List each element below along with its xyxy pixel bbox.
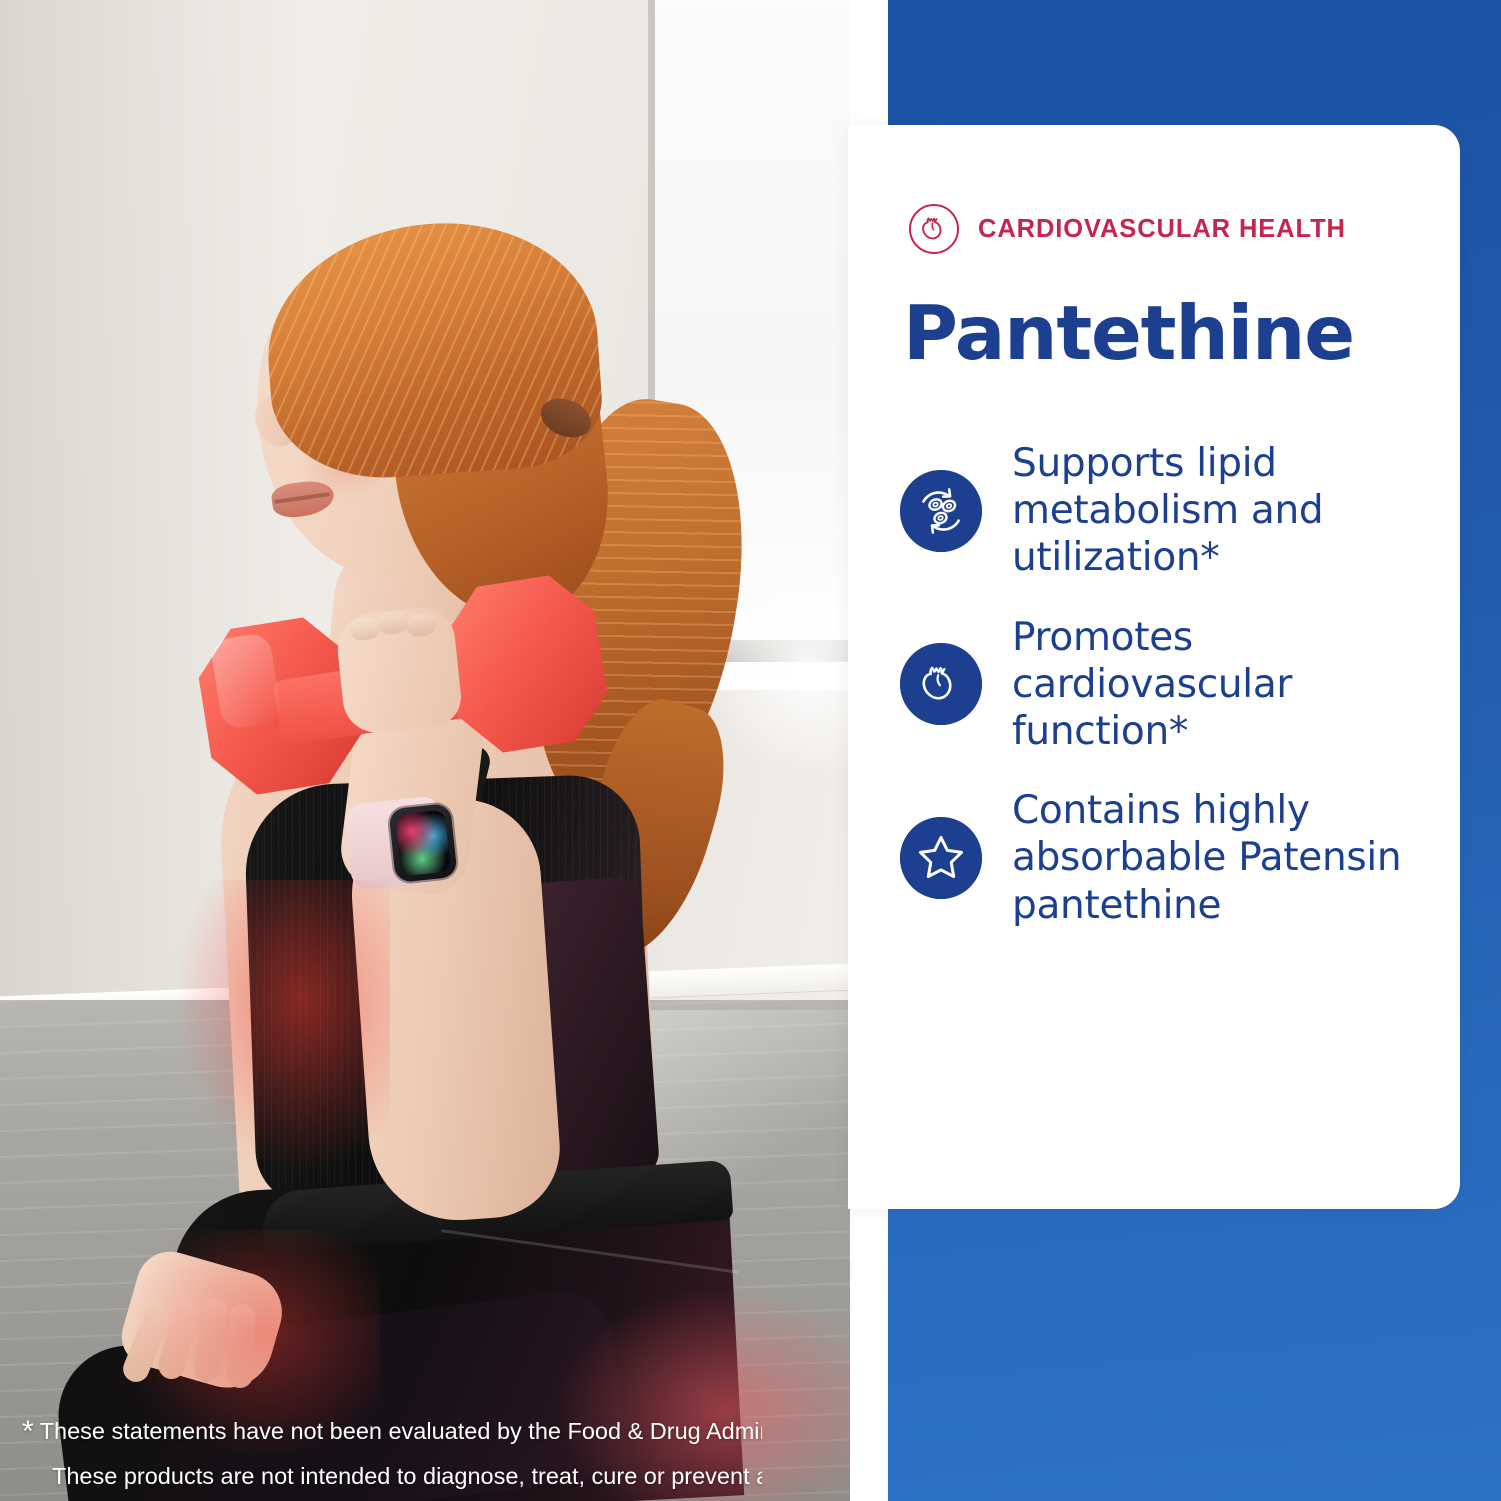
benefit-label: Promotes cardiovascular function*	[1012, 614, 1420, 756]
asterisk-marker: *	[22, 1415, 34, 1448]
anatomical-heart-icon	[900, 643, 982, 725]
lifestyle-photo	[0, 0, 850, 1501]
lipid-metabolism-cycle-icon	[900, 470, 982, 552]
infographic-canvas: CARDIOVASCULAR HEALTH Pantethine	[0, 0, 1501, 1501]
star-icon	[900, 817, 982, 899]
benefit-item-lipid-metabolism: Supports lipid metabolism and utilizatio…	[900, 440, 1420, 582]
benefit-label: Supports lipid metabolism and utilizatio…	[1012, 440, 1420, 582]
benefit-item-cardiovascular-function: Promotes cardiovascular function*	[900, 614, 1420, 756]
photo-red-glow	[170, 880, 390, 1180]
benefit-item-patensin-pantethine: Contains highly absorbable Patensin pant…	[900, 787, 1420, 929]
cardiovascular-health-badge: CARDIOVASCULAR HEALTH	[908, 203, 1346, 255]
fda-disclaimer-line-2: These products are not intended to diagn…	[52, 1457, 762, 1495]
fda-disclaimer-clip: *These statements have not been evaluate…	[22, 1408, 762, 1501]
benefits-list: Supports lipid metabolism and utilizatio…	[900, 440, 1420, 929]
benefit-label: Contains highly absorbable Patensin pant…	[1012, 787, 1420, 929]
badge-label: CARDIOVASCULAR HEALTH	[978, 215, 1346, 244]
fda-disclaimer-line-1: *These statements have not been evaluate…	[22, 1408, 762, 1457]
page-title: Pantethine	[903, 296, 1354, 371]
figure-hair-strands	[260, 213, 607, 485]
anatomical-heart-icon	[908, 203, 960, 255]
fda-disclaimer-text-1: These statements have not been evaluated…	[40, 1418, 762, 1444]
photo-figure	[0, 0, 850, 1501]
smartwatch-screen	[395, 810, 451, 877]
